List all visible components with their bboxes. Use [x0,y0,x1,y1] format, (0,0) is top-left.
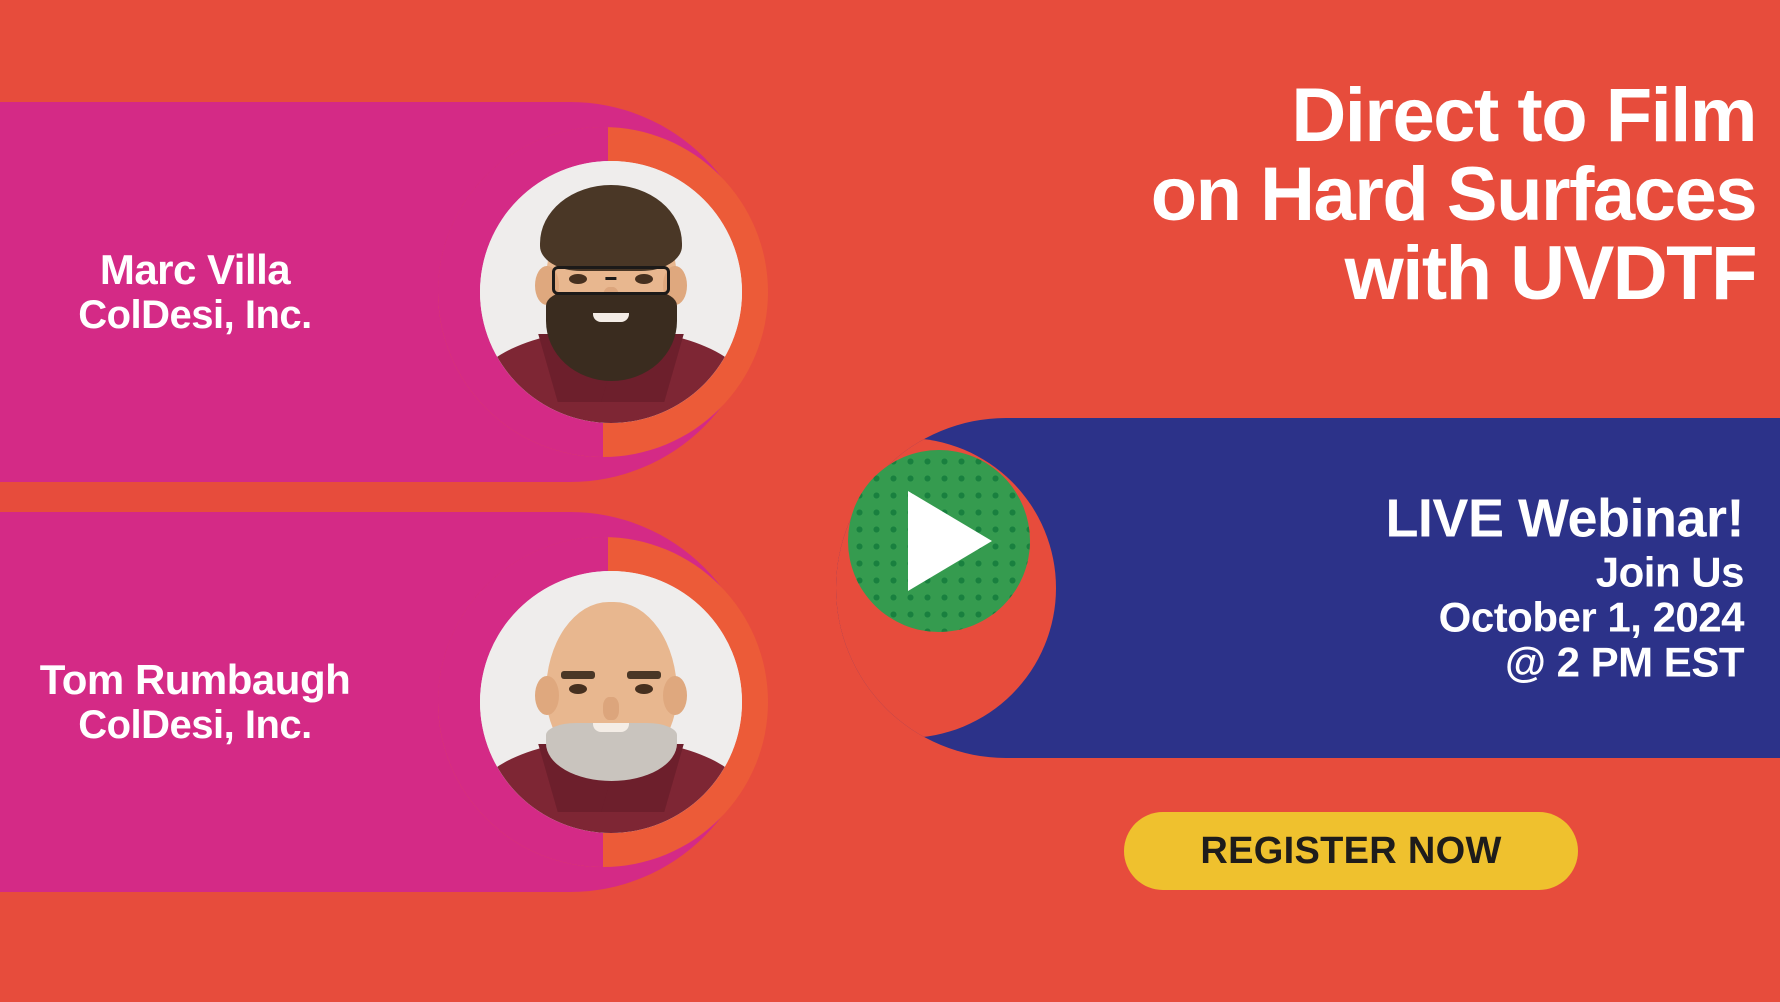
webinar-banner: Marc Villa ColDesi, Inc. [0,0,1780,1002]
headline-line-2: on Hard Surfaces [856,155,1756,234]
live-webinar-join: Join Us [1385,550,1744,595]
speaker-org: ColDesi, Inc. [0,703,430,748]
live-webinar-date: October 1, 2024 [1385,595,1744,640]
play-icon[interactable] [848,450,1030,632]
speaker-name: Tom Rumbaugh [0,656,430,703]
speaker-avatar-2 [480,571,742,833]
live-webinar-time: @ 2 PM EST [1385,640,1744,685]
headshot-marc-villa [480,161,742,423]
speaker-info-1: Marc Villa ColDesi, Inc. [0,246,430,338]
live-webinar-title: LIVE Webinar! [1385,491,1744,549]
headshot-tom-rumbaugh [480,571,742,833]
headline-line-3: with UVDTF [856,234,1756,313]
live-webinar-details: LIVE Webinar! Join Us October 1, 2024 @ … [1385,491,1744,686]
register-now-button[interactable]: REGISTER NOW [1124,812,1578,890]
page-title: Direct to Film on Hard Surfaces with UVD… [856,76,1756,313]
speaker-avatar-1 [480,161,742,423]
speaker-name: Marc Villa [0,246,430,293]
speaker-org: ColDesi, Inc. [0,293,430,338]
eyeglasses-icon [552,266,670,295]
play-triangle-icon [908,491,992,591]
headline-line-1: Direct to Film [856,76,1756,155]
speaker-info-2: Tom Rumbaugh ColDesi, Inc. [0,656,430,748]
